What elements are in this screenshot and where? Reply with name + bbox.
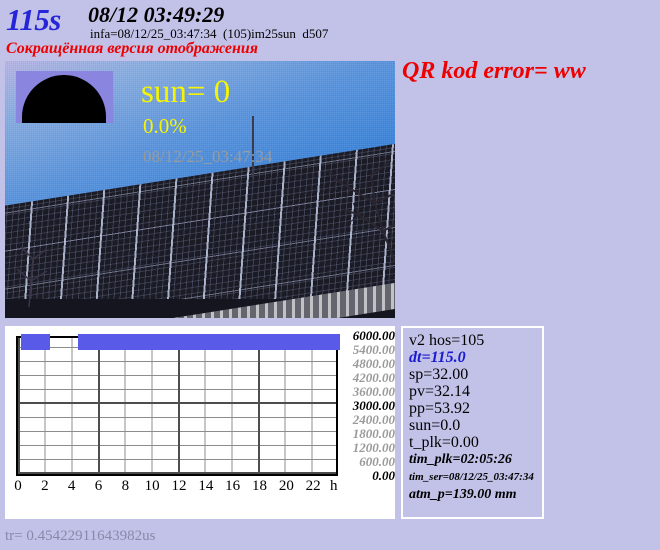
sun-position-indicator [16,71,113,123]
chart-x-tick-label: 16 [225,478,240,495]
chart-y-tick-label: 2400.00 [353,414,395,426]
chart-panel: 6000.005400.004800.004200.003600.003000.… [5,326,395,519]
chart-x-tick-label: 8 [122,478,130,495]
chart-y-axis: 6000.005400.004800.004200.003600.003000.… [341,328,397,486]
telemetry-line: v2 hos=105 [409,332,542,349]
telemetry-line: dt=115.0 [409,349,542,366]
camera-photo: sun= 0 0.0% 08/12/25_03:47:34 [5,61,395,318]
photo-timestamp: 08/12/25_03:47:34 [143,147,272,167]
chart-x-axis: 0246810121416182022h [16,478,356,500]
chart-gridlines-major [18,338,336,474]
chart-x-tick-label: 6 [95,478,103,495]
chart-x-tick-label: 14 [198,478,213,495]
chart-x-unit-label: h [330,478,338,495]
tree-branches-icon [279,153,395,268]
chart-x-tick-label: 10 [145,478,160,495]
footer-status-text: tr= 0.45422911643982us [5,528,155,545]
telemetry-line: pv=32.14 [409,383,542,400]
chart-y-tick-label: 4800.00 [353,358,395,370]
chart-y-tick-label: 1800.00 [353,428,395,440]
chart-x-tick-label: 0 [14,478,22,495]
telemetry-line: sun=0.0 [409,417,542,434]
clock-display: 08/12 03:49:29 [88,2,224,28]
chart-y-tick-label: 600.00 [359,456,395,468]
tree-left [7,229,59,307]
chart-y-tick-label: 1200.00 [353,442,395,454]
chart-x-tick-label: 22 [306,478,321,495]
chart-plot-area [16,336,338,476]
short-version-note: Сокращённая версия отображения [6,40,258,58]
chart-y-tick-label: 5400.00 [353,344,395,356]
telemetry-line: atm_p=139.00 mm [409,486,542,504]
tree-branches-small-icon [7,229,59,307]
chart-y-tick-label: 4200.00 [353,372,395,384]
telemetry-line: t_plk=0.00 [409,434,542,451]
chart-x-tick-label: 2 [41,478,49,495]
seconds-badge: 115s [6,2,61,38]
chart-y-tick-label: 0.00 [372,470,395,482]
telemetry-line: sp=32.00 [409,366,542,383]
qr-error-message: QR kod error= ww [402,58,586,85]
telemetry-panel: v2 hos=105dt=115.0sp=32.00pv=32.14pp=53.… [401,326,544,519]
telemetry-line: tim_ser=08/12/25_03:47:34 [409,469,542,486]
tree-right [279,153,395,268]
chart-bar-segment [21,334,51,350]
telemetry-line: pp=53.92 [409,400,542,417]
chart-x-tick-label: 20 [279,478,294,495]
chart-x-tick-label: 4 [68,478,76,495]
chart-inner: 6000.005400.004800.004200.003600.003000.… [7,328,393,517]
photo-sun-value: sun= 0 [141,74,230,111]
photo-percent-value: 0.0% [143,114,187,139]
chart-y-tick-label: 3000.00 [353,400,395,412]
chart-x-tick-label: 12 [172,478,187,495]
telemetry-line: tim_plk=02:05:26 [409,451,542,469]
chart-y-tick-label: 6000.00 [353,330,395,342]
chart-y-tick-label: 3600.00 [353,386,395,398]
chart-x-tick-label: 18 [252,478,267,495]
chart-bar-segment [78,334,340,350]
header-bar: 115s 08/12 03:49:29 infa=08/12/25_03:47:… [0,0,660,58]
sun-dome-icon [22,75,106,123]
